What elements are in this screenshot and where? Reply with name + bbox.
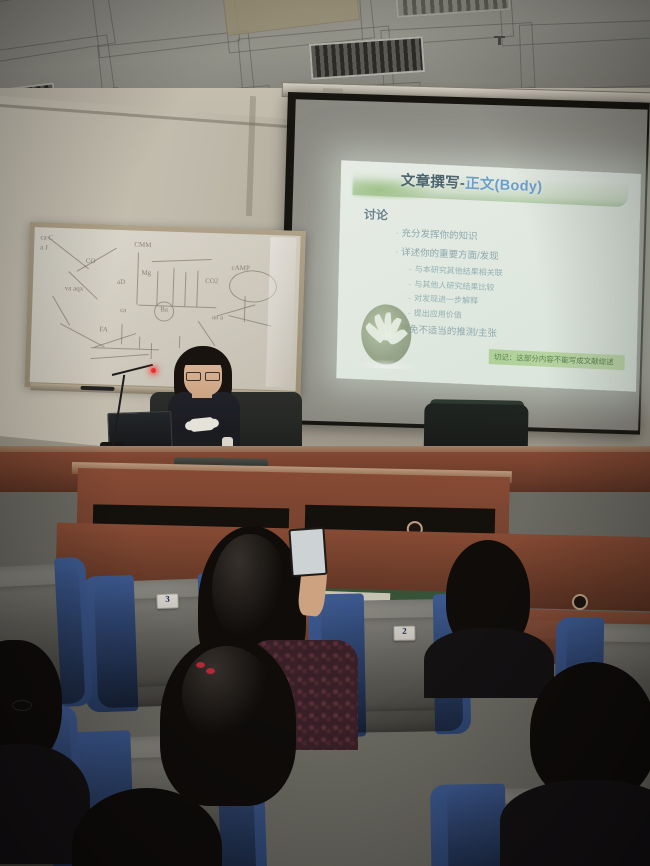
presentation-slide: 文章撰写-正文(Body) 讨论 ·充分发挥你的知识 ·详述你的重要方面/发现 … <box>336 160 641 392</box>
seat-number-tag: 2 <box>393 626 415 641</box>
wb-note-v: va aqx <box>65 284 84 293</box>
screen-surface: 文章撰写-正文(Body) 讨论 ·充分发挥你的知识 ·详述你的重要方面/发现 … <box>286 99 647 430</box>
student-right-upper-shoulder <box>424 628 554 698</box>
bullet-text: 提出应用价值 <box>414 308 462 319</box>
wb-note-ad: aD <box>117 278 125 286</box>
whiteboard: ca C a J CO va aqx CMM Mg aD ca FA <box>25 222 306 396</box>
presenter-bow-tie <box>189 417 214 432</box>
wb-note-ica: ca <box>120 306 126 314</box>
hair-sheen <box>212 534 288 644</box>
sprinkler-icon <box>498 36 501 45</box>
slide-note-highlight: 切记：这部分内容不能写成文献综述 <box>489 349 625 370</box>
smartphone[interactable] <box>288 527 327 577</box>
plant-lily-logo <box>356 301 415 372</box>
projection-screen: 文章撰写-正文(Body) 讨论 ·充分发挥你的知识 ·详述你的重要方面/发现 … <box>278 92 650 435</box>
hair-tie-icon <box>196 662 205 668</box>
wb-note-ba: Ba <box>160 305 168 313</box>
glasses-icon-student <box>12 700 32 711</box>
wb-note-fa: FA <box>99 325 108 333</box>
glasses-icon <box>186 372 220 379</box>
desk-cable-grommet <box>572 594 588 610</box>
wb-note-cmm: CMM <box>134 240 151 249</box>
presenter-fringe <box>181 348 225 365</box>
slide-section-label: 讨论 <box>364 205 388 223</box>
wb-note-ca2: a J <box>40 243 48 251</box>
slide-title-cn: 文章撰写 <box>401 173 461 192</box>
slide-note-text: 切记：这部分内容不能写成文献综述 <box>494 351 614 367</box>
slide-title-highlight: 正文(Body) <box>465 176 543 196</box>
wb-note-aa: aa a <box>212 313 223 321</box>
bullet-text: 与其他人研究结果比较 <box>414 279 494 292</box>
whiteboard-surface: ca C a J CO va aqx CMM Mg aD ca FA <box>30 227 301 391</box>
bullet-text: 充分发挥你的知识 <box>401 228 477 242</box>
wb-note-co: CO <box>86 257 96 265</box>
bullet-text: 详述你的重要方面/发现 <box>401 247 499 262</box>
wb-note-co2: CO2 <box>205 277 218 285</box>
bullet-text: 与本研究其他结果相关联 <box>415 265 503 278</box>
seat-number-tag: 3 <box>156 593 179 609</box>
slide-bullet-list: ·充分发挥你的知识 ·详述你的重要方面/发现 -与本研究其他结果相关联 -与其他… <box>393 225 631 351</box>
hair-tie-icon-2 <box>206 668 215 674</box>
lecture-hall-photo: 文章撰写-正文(Body) 讨论 ·充分发挥你的知识 ·详述你的重要方面/发现 … <box>0 0 650 866</box>
microphone-led-icon <box>151 368 156 373</box>
wb-note-mg: Mg <box>141 269 151 277</box>
hair-sheen <box>182 646 272 742</box>
student-right-lower-shoulder <box>500 780 650 866</box>
bullet-text: 对发现进一步解释 <box>414 294 478 306</box>
whiteboard-gloss <box>266 237 297 388</box>
